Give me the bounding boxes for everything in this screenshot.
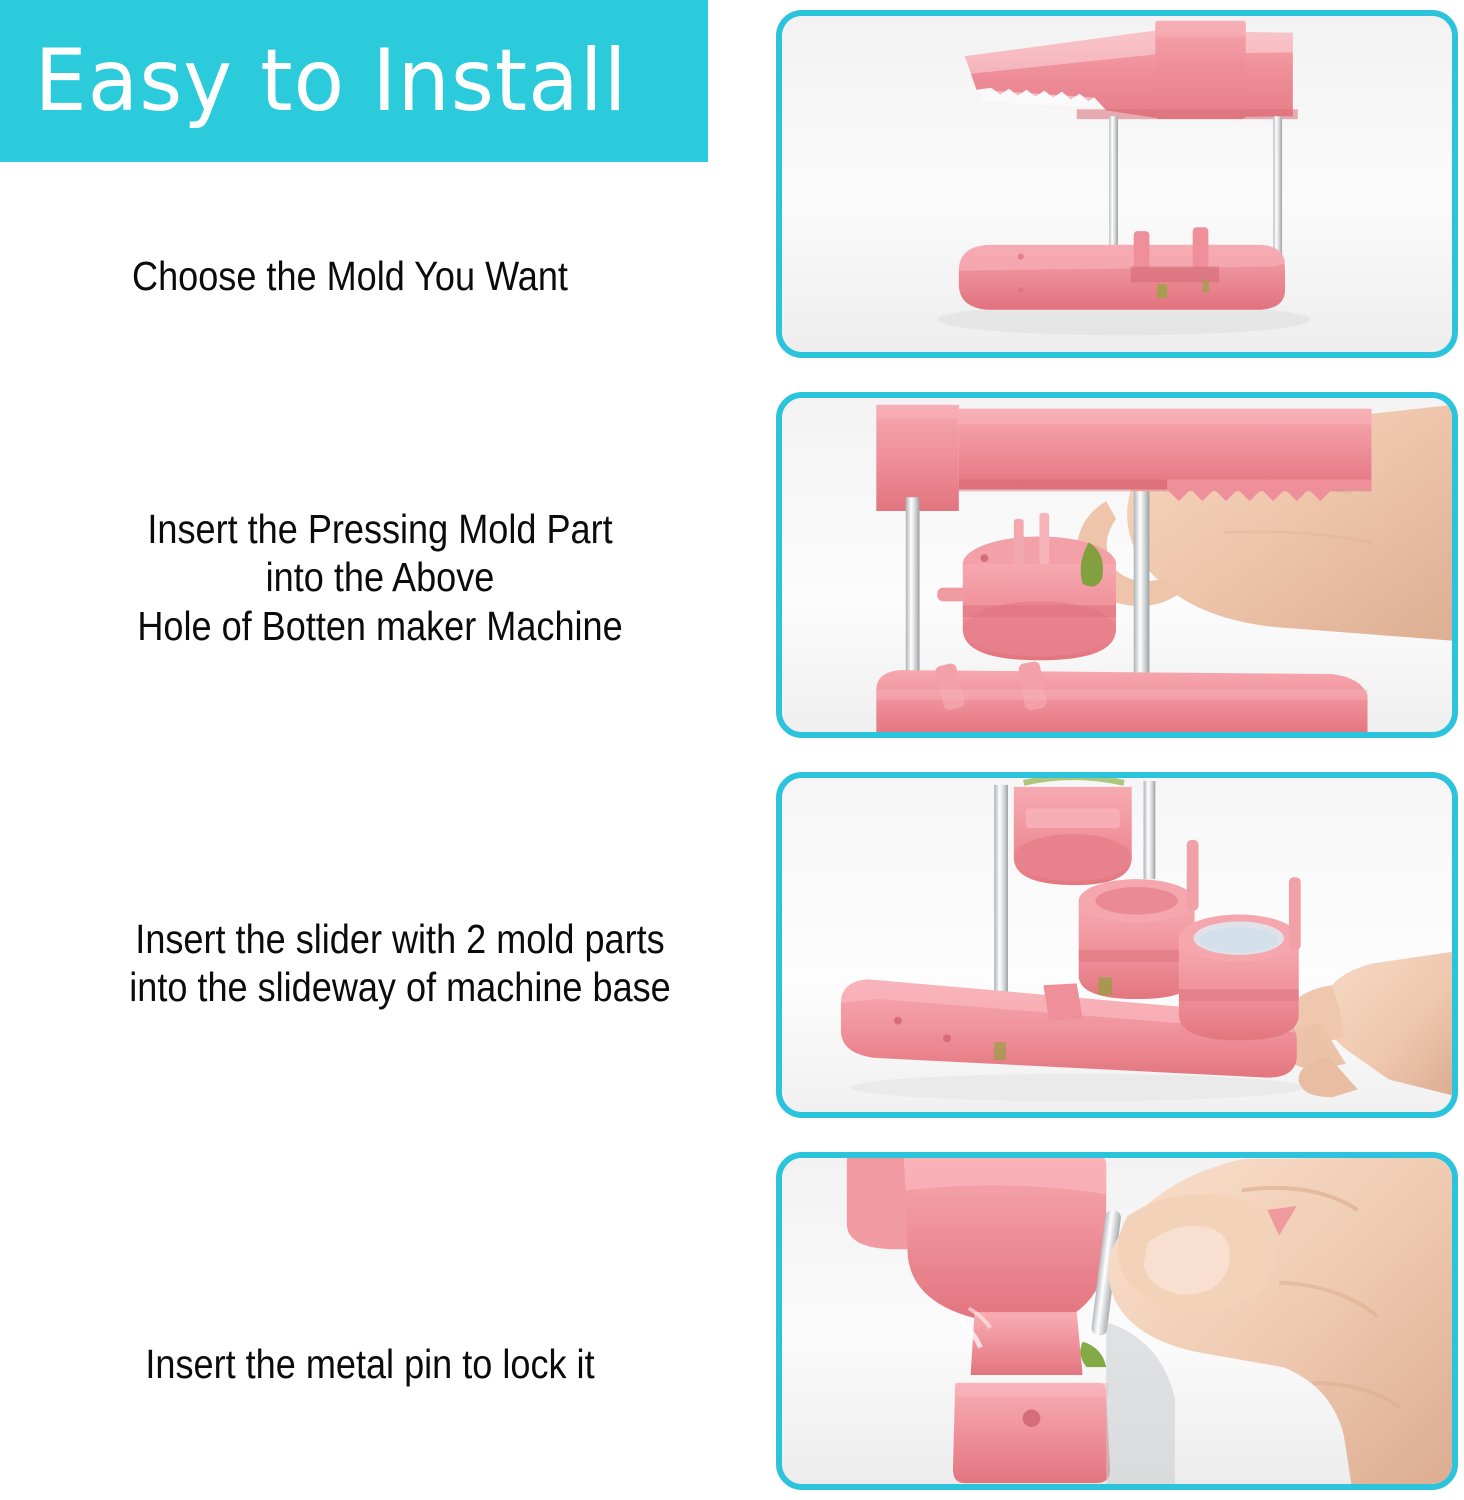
step-1-photo-panel <box>776 10 1458 358</box>
button-maker-machine-photo <box>782 16 1452 352</box>
step-3-photo-panel <box>776 772 1458 1118</box>
caption-line: Insert the metal pin to lock it <box>44 1340 695 1388</box>
instructions-column: Easy to Install Choose the Mold You Want… <box>0 0 760 1500</box>
step-2-caption: Insert the Pressing Mold Part into the A… <box>54 505 705 650</box>
step-4-caption: Insert the metal pin to lock it <box>44 1340 695 1388</box>
step-4-photo-panel <box>776 1152 1458 1490</box>
step-1-caption: Choose the Mold You Want <box>42 252 658 300</box>
caption-line: into the slideway of machine base <box>48 963 752 1011</box>
infographic-page: Easy to Install Choose the Mold You Want… <box>0 0 1464 1500</box>
caption-line: Hole of Botten maker Machine <box>54 602 705 650</box>
caption-line: Choose the Mold You Want <box>42 252 658 300</box>
insert-pressing-mold-photo <box>782 398 1452 732</box>
step-3-caption: Insert the slider with 2 mold parts into… <box>48 915 752 1012</box>
page-title: Easy to Install <box>0 38 627 124</box>
insert-slider-photo <box>782 778 1452 1112</box>
upper-pressing-mold <box>1014 778 1132 885</box>
caption-line: Insert the Pressing Mold Part <box>54 505 705 553</box>
caption-line: Insert the slider with 2 mold parts <box>48 915 752 963</box>
photo-column <box>762 0 1464 1500</box>
caption-line: into the Above <box>54 553 705 601</box>
header-banner: Easy to Install <box>0 0 708 162</box>
insert-metal-pin-photo <box>782 1158 1452 1484</box>
step-2-photo-panel <box>776 392 1458 738</box>
